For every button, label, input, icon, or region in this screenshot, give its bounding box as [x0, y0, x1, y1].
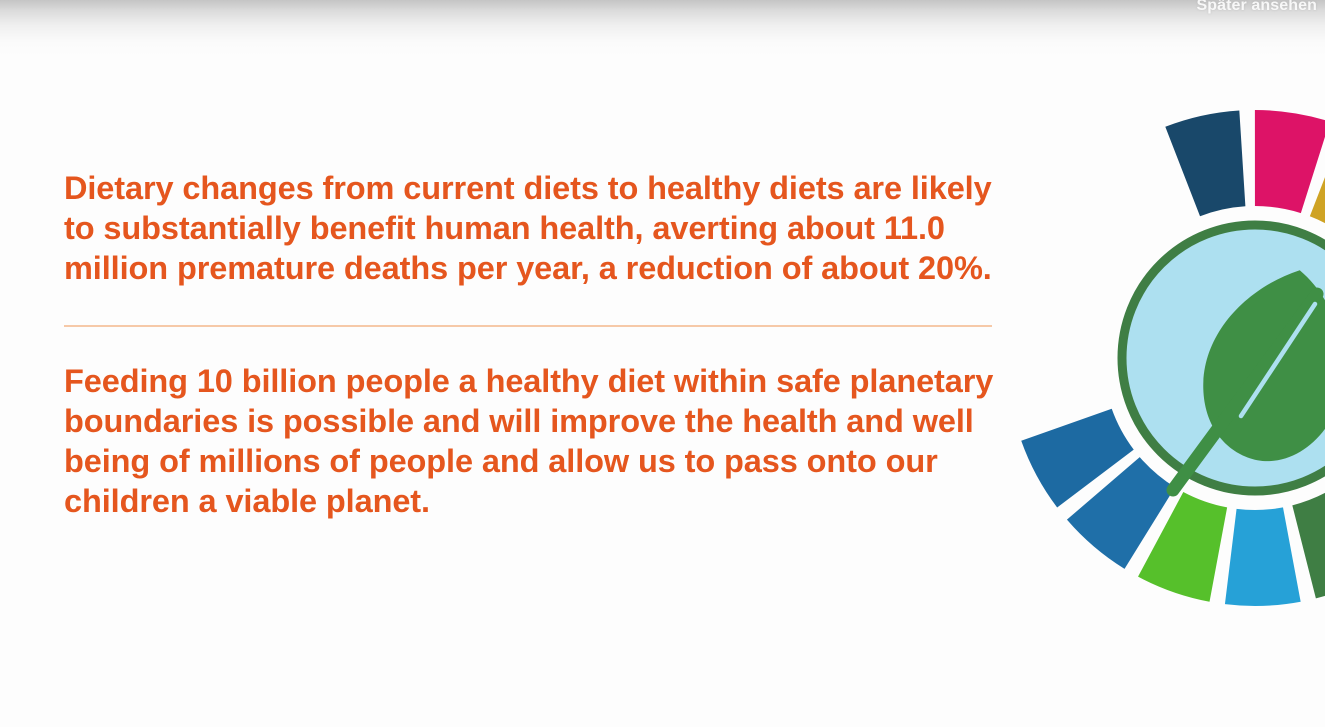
slide-screen: Später ansehen Dietary changes from curr… [0, 0, 1325, 727]
sdg-wheel-logo [995, 98, 1325, 618]
paragraph-divider [64, 325, 992, 327]
wheel-segment [1158, 104, 1254, 220]
slide-text-block: Dietary changes from current diets to he… [64, 168, 1024, 521]
video-top-gradient-overlay [0, 0, 1325, 56]
sdg-wheel-svg [995, 98, 1325, 618]
paragraph-one: Dietary changes from current diets to he… [64, 168, 1024, 288]
paragraph-two: Feeding 10 billion people a healthy diet… [64, 361, 1024, 521]
watch-later-button[interactable]: Später ansehen [1196, 0, 1317, 15]
wheel-segment [1246, 109, 1325, 215]
